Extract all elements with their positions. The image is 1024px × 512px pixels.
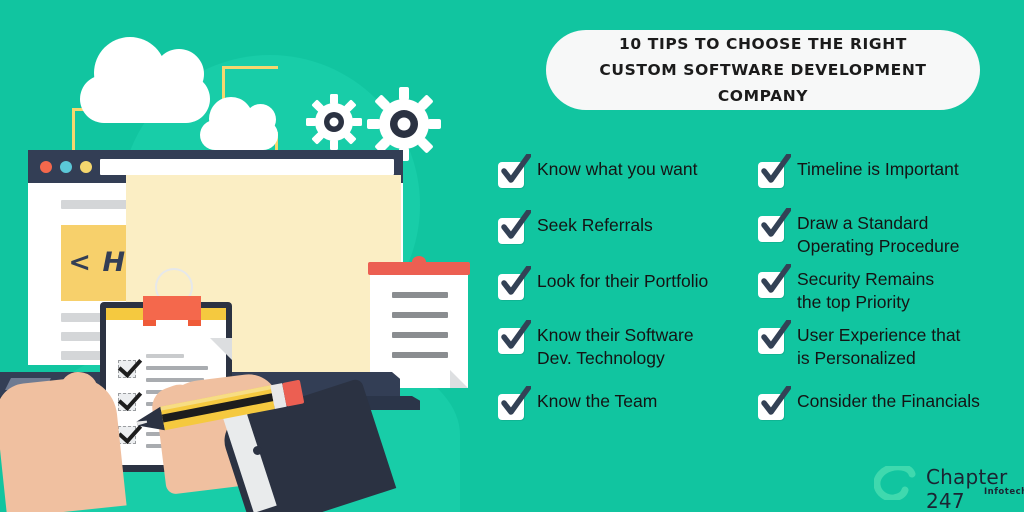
tip-item-9[interactable]: User Experience that is Personalized — [758, 324, 960, 370]
cloud-small-icon — [200, 120, 278, 150]
tip-label-9: User Experience that is Personalized — [788, 324, 960, 370]
tip-label-5: Know the Team — [528, 390, 657, 413]
page-title-line-1: 10 Tips to Choose the Right — [599, 31, 926, 57]
clipboard-text-line — [146, 366, 208, 370]
check-icon — [761, 320, 791, 357]
connector-line-mid-top — [222, 66, 278, 69]
page-title-line-3: Company — [599, 83, 926, 109]
gear-small-icon — [305, 93, 363, 156]
chapter247-mark-icon — [874, 466, 918, 505]
check-icon — [501, 210, 531, 247]
checkbox-6[interactable] — [758, 158, 788, 188]
tip-label-3: Look for their Portfolio — [528, 270, 708, 293]
document-clip-bar — [368, 262, 470, 275]
check-icon — [761, 264, 791, 301]
maximize-dot-icon — [80, 161, 92, 173]
tip-item-5[interactable]: Know the Team — [498, 390, 657, 420]
checkbox-8[interactable] — [758, 268, 788, 298]
checkbox-5[interactable] — [498, 390, 528, 420]
clipboard-paper-fold — [210, 338, 232, 360]
tip-label-8: Security Remains the top Priority — [788, 268, 934, 314]
browser-url-bar — [100, 159, 394, 175]
tip-item-2[interactable]: Seek Referrals — [498, 214, 653, 244]
tip-label-2: Seek Referrals — [528, 214, 653, 237]
checkbox-1[interactable] — [498, 158, 528, 188]
check-icon — [761, 154, 791, 191]
document-sheet — [370, 268, 468, 388]
document-line — [392, 332, 448, 338]
tip-label-10: Consider the Financials — [788, 390, 980, 413]
tip-label-1: Know what you want — [528, 158, 698, 181]
tip-item-7[interactable]: Draw a Standard Operating Procedure — [758, 212, 959, 258]
document-line — [392, 352, 448, 358]
check-icon — [501, 320, 531, 357]
checkbox-7[interactable] — [758, 212, 788, 242]
checkbox-3[interactable] — [498, 270, 528, 300]
tip-item-10[interactable]: Consider the Financials — [758, 390, 980, 420]
page-title: 10 Tips to Choose the Right Custom Softw… — [585, 31, 940, 109]
clipboard-text-line — [146, 354, 184, 358]
tip-item-8[interactable]: Security Remains the top Priority — [758, 268, 934, 314]
check-icon — [501, 154, 531, 191]
close-dot-icon — [40, 161, 52, 173]
tip-label-7: Draw a Standard Operating Procedure — [788, 212, 959, 258]
infographic-canvas: < HTML > < DIV > — [0, 0, 1024, 512]
check-icon — [761, 386, 791, 423]
tip-label-4: Know their Software Dev. Technology — [528, 324, 694, 370]
document-line — [392, 292, 448, 298]
document-corner-fold — [450, 370, 468, 388]
tip-item-4[interactable]: Know their Software Dev. Technology — [498, 324, 694, 370]
document-line — [392, 312, 448, 318]
check-icon — [501, 386, 531, 423]
checkbox-4[interactable] — [498, 324, 528, 354]
tip-item-3[interactable]: Look for their Portfolio — [498, 270, 708, 300]
checkbox-2[interactable] — [498, 214, 528, 244]
checkbox-9[interactable] — [758, 324, 788, 354]
check-icon — [501, 266, 531, 303]
brand-subtitle: Infotech — [984, 487, 1024, 497]
cuff-button — [253, 446, 262, 455]
cloud-large-icon — [80, 75, 210, 123]
headline-card: 10 Tips to Choose the Right Custom Softw… — [546, 30, 980, 110]
checkbox-10[interactable] — [758, 390, 788, 420]
pencil-icon — [122, 380, 312, 445]
tip-item-1[interactable]: Know what you want — [498, 158, 698, 188]
tip-label-6: Timeline is Important — [788, 158, 959, 181]
clipboard-clip — [143, 296, 201, 320]
minimize-dot-icon — [60, 161, 72, 173]
tip-item-6[interactable]: Timeline is Important — [758, 158, 959, 188]
brand-logo[interactable]: Chapter 247 Infotech — [874, 460, 1024, 506]
check-icon — [761, 208, 791, 245]
page-title-line-2: Custom Software Development — [599, 57, 926, 83]
